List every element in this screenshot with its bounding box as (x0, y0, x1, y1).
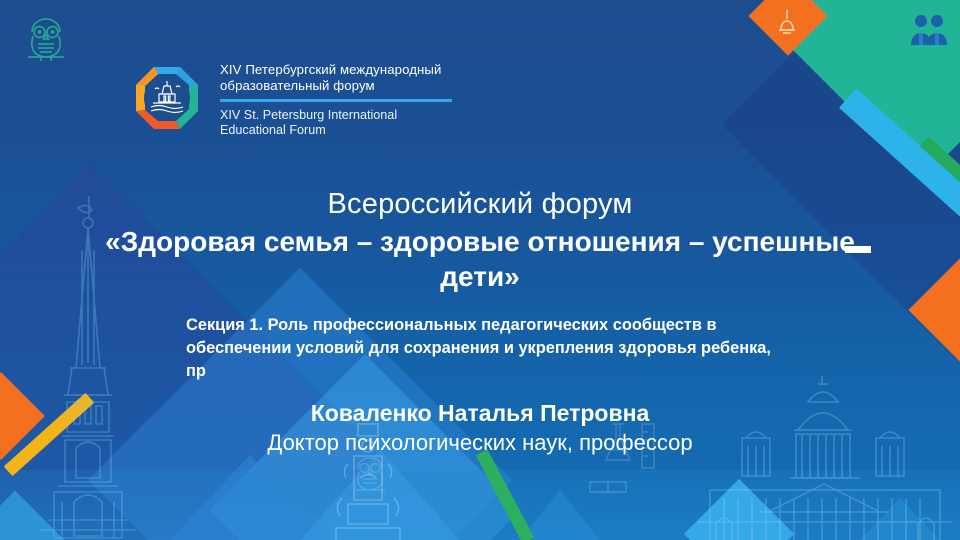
main-heading-block: Всероссийский форум «Здоровая семья – зд… (0, 186, 960, 294)
forum-eyebrow: Всероссийский форум (0, 186, 960, 222)
forum-logo: XIV Петербургский международный образова… (128, 52, 452, 144)
speaker-name: Коваленко Наталья Петровна (0, 398, 960, 428)
logo-title-en: XIV St. Petersburg International Educati… (220, 108, 452, 139)
section-description: Секция 1. Роль профессиональных педагоги… (186, 314, 786, 383)
logo-divider (220, 99, 452, 102)
decor-bottom-band (0, 470, 960, 540)
owl-icon (24, 16, 68, 66)
speaker-role: Доктор психологических наук, профессор (0, 428, 960, 458)
spb-forum-octagon-emblem (128, 52, 206, 144)
logo-title-ru: XIV Петербургский международный образова… (220, 62, 452, 94)
presentation-slide: XIV Петербургский международный образова… (0, 0, 960, 540)
page-title: «Здоровая семья – здоровые отношения – у… (0, 224, 960, 294)
speaker-block: Коваленко Наталья Петровна Доктор психол… (0, 398, 960, 458)
